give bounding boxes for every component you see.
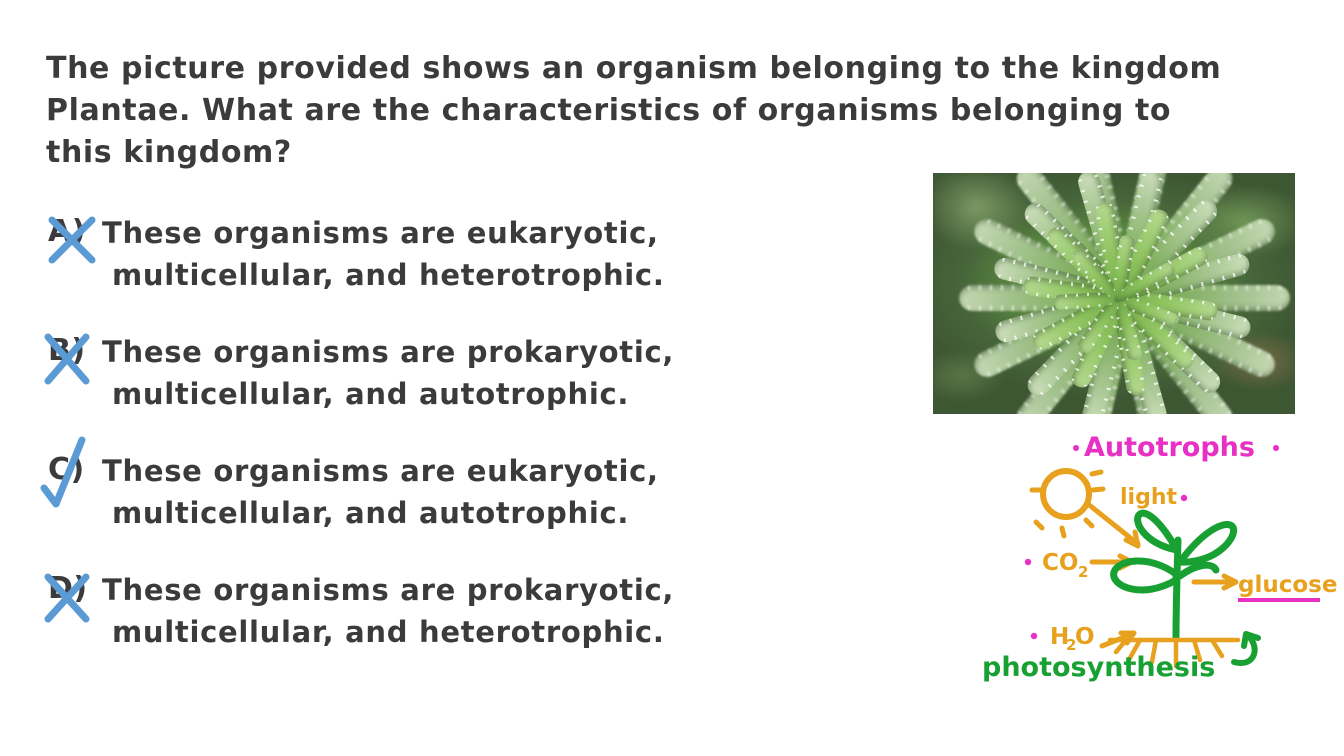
option-c-line-1: These organisms are eukaryotic, [102,450,806,492]
glucose-label: glucose [1238,572,1337,598]
check-mark-icon [42,442,106,508]
photosynthesis-label: photosynthesis [982,652,1215,683]
option-c-marker[interactable]: C) [46,452,102,506]
option-c-text: These organisms are eukaryotic, multicel… [102,450,806,534]
co2-label: CO [1042,550,1078,576]
glucose-arrow-icon [1194,576,1236,588]
h2o-label-o: O [1075,624,1095,650]
h2o-arrow-icon [1102,633,1134,646]
option-a-line-2: multicellular, and heterotrophic. [102,254,806,296]
photosynthesis-autotroph-diagram: Autotrophs light CO 2 [980,428,1320,686]
answer-option-b[interactable]: B) These organisms are prokaryotic, mult… [46,331,806,423]
option-d-line-2: multicellular, and heterotrophic. [102,611,806,653]
option-c-line-2: multicellular, and autotrophic. [102,492,806,534]
cross-mark-icon [42,204,106,270]
sun-icon [1032,471,1103,536]
option-d-line-1: These organisms are prokaryotic, [102,569,806,611]
question-line-2: Plantae. What are the characteristics of… [46,90,1301,132]
option-d-marker[interactable]: D) [46,571,102,625]
option-a-text: These organisms are eukaryotic, multicel… [102,212,806,296]
light-arrow-icon [1088,504,1138,546]
question-prompt: The picture provided shows an organism b… [46,48,1301,174]
question-line-3: this kingdom? [46,132,1301,174]
diagram-title: Autotrophs [1084,432,1255,463]
option-b-marker[interactable]: B) [46,333,102,387]
option-b-text: These organisms are prokaryotic, multice… [102,331,806,415]
option-d-text: These organisms are prokaryotic, multice… [102,569,806,653]
answer-options-list: A) These organisms are eukaryotic, multi… [46,212,806,688]
answer-option-a[interactable]: A) These organisms are eukaryotic, multi… [46,212,806,304]
plant-sprout-icon [1114,513,1234,638]
h2o-bullet-icon [1031,633,1037,639]
title-dot-left-icon [1073,445,1079,451]
option-b-line-1: These organisms are prokaryotic, [102,331,806,373]
option-b-line-2: multicellular, and autotrophic. [102,373,806,415]
question-line-1: The picture provided shows an organism b… [46,48,1301,90]
co2-bullet-icon [1025,559,1031,565]
light-label: light [1120,485,1177,510]
aloe-succulent-plant-photo [933,173,1295,414]
light-dot-icon [1181,495,1187,501]
worksheet-page: The picture provided shows an organism b… [0,0,1344,756]
cross-mark-icon [42,561,106,627]
option-a-marker[interactable]: A) [46,214,102,268]
answer-option-c[interactable]: C) These organisms are eukaryotic, multi… [46,450,806,542]
cross-mark-icon [42,323,106,389]
answer-option-d[interactable]: D) These organisms are prokaryotic, mult… [46,569,806,661]
option-a-line-1: These organisms are eukaryotic, [102,212,806,254]
co2-subscript: 2 [1078,563,1088,581]
title-dot-right-icon [1273,445,1279,451]
